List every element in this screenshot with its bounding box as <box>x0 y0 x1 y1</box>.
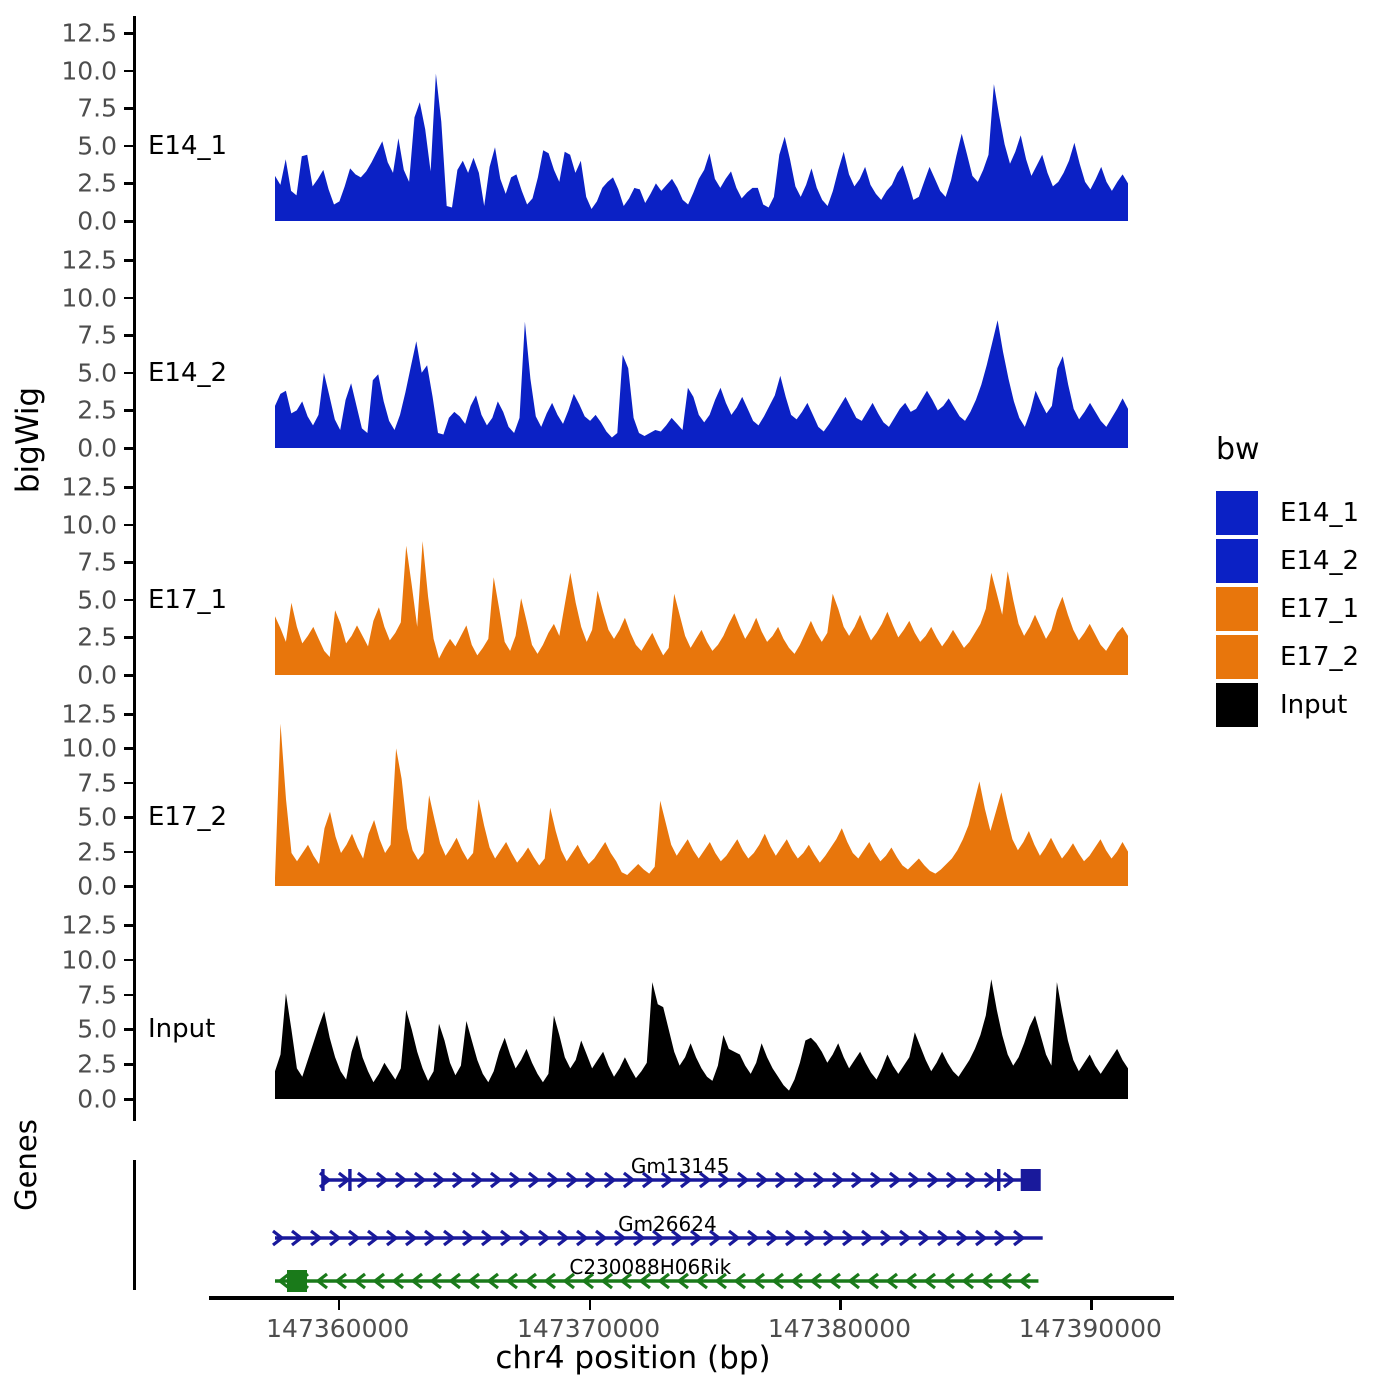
genes-panel: Gm13145Gm26624C230088H06Rik1473600001473… <box>0 1148 1200 1358</box>
track-area-e17_2 <box>0 697 1180 908</box>
legend-item-input[interactable]: Input <box>1216 681 1359 729</box>
x-tick <box>338 1300 341 1310</box>
gene-exon-block <box>1021 1169 1041 1191</box>
gene-track-Gm26624[interactable] <box>273 1231 1043 1245</box>
bigwig-panel-e17_2: 0.02.55.07.510.012.5E17_2 <box>0 697 1180 908</box>
gene-tracks-svg <box>0 1148 1200 1308</box>
legend-swatch <box>1216 683 1258 727</box>
legend-label: E17_2 <box>1280 642 1359 672</box>
legend-label: E14_1 <box>1280 498 1359 528</box>
legend-item-e17_2[interactable]: E17_2 <box>1216 633 1359 681</box>
legend-item-e14_2[interactable]: E14_2 <box>1216 537 1359 585</box>
x-tick-label: 147360000 <box>218 1314 458 1343</box>
x-tick-label: 147370000 <box>469 1314 709 1343</box>
track-area-e14_2 <box>0 243 1180 470</box>
legend-items: E14_1E14_2E17_1E17_2Input <box>1216 489 1359 729</box>
legend: bw E14_1E14_2E17_1E17_2Input <box>1216 432 1359 729</box>
x-tick-label: 147390000 <box>970 1314 1210 1343</box>
gene-exon-block <box>287 1270 307 1292</box>
legend-swatch <box>1216 635 1258 679</box>
bigwig-panel-e17_1: 0.02.55.07.510.012.5E17_1 <box>0 470 1180 697</box>
x-tick <box>1090 1300 1093 1310</box>
track-area-e14_1 <box>0 16 1180 243</box>
bigwig-panel-e14_1: 0.02.55.07.510.012.5E14_1 <box>0 16 1180 243</box>
x-tick <box>589 1300 592 1310</box>
legend-swatch <box>1216 539 1258 583</box>
legend-label: E14_2 <box>1280 546 1359 576</box>
legend-label: Input <box>1280 690 1347 720</box>
bigwig-panel-e14_2: 0.02.55.07.510.012.5E14_2 <box>0 243 1180 470</box>
gene-track-Gm13145[interactable] <box>320 1169 1041 1191</box>
bigwig-panel-input: 0.02.55.07.510.012.5Input <box>0 908 1180 1121</box>
legend-title: bw <box>1216 432 1359 467</box>
x-tick <box>839 1300 842 1310</box>
x-tick-label: 147380000 <box>719 1314 959 1343</box>
legend-swatch <box>1216 587 1258 631</box>
legend-item-e14_1[interactable]: E14_1 <box>1216 489 1359 537</box>
legend-swatch <box>1216 491 1258 535</box>
legend-item-e17_1[interactable]: E17_1 <box>1216 585 1359 633</box>
gene-track-C230088H06Rik[interactable] <box>275 1270 1038 1292</box>
legend-label: E17_1 <box>1280 594 1359 624</box>
track-area-e17_1 <box>0 470 1180 697</box>
track-area-input <box>0 908 1180 1121</box>
